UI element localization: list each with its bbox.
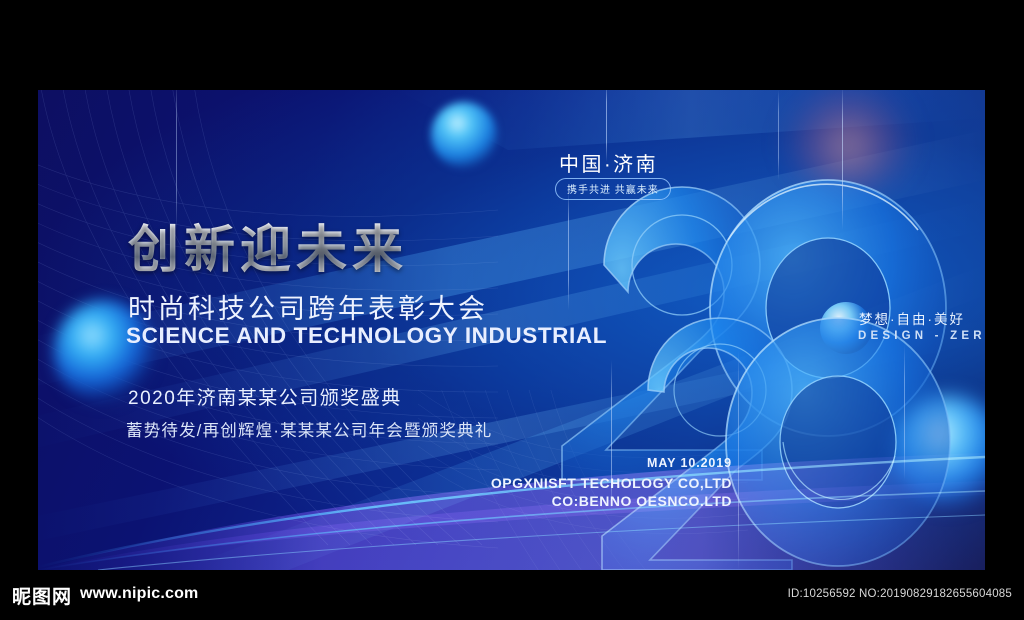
guide-line xyxy=(904,345,905,480)
poster-slogan-cn: 梦想·自由·美好 xyxy=(859,308,965,328)
poster-event-line-2: 蓄势待发/再创辉煌·某某某公司年会暨颁奖典礼 xyxy=(126,417,492,441)
warm-flare-decoration xyxy=(783,90,913,190)
image-meta-id: ID:10256592 NO:20190829182655604085 xyxy=(788,588,1012,600)
guide-line xyxy=(568,190,569,310)
poster-company-line-2: CO:BENNO OESNCO.LTD xyxy=(447,493,732,509)
poster-event-line-1: 2020年济南某某公司颁奖盛典 xyxy=(128,383,402,410)
poster-slogan-badge: 携手共进 共赢未来 xyxy=(555,178,671,200)
poster-subtitle-en: SCIENCE AND TECHNOLOGY INDUSTRIAL xyxy=(126,323,607,349)
glow-orb-right xyxy=(893,395,985,507)
poster-title: 创新迎未来 xyxy=(128,208,408,282)
poster-slogan-en: DESIGN - ZERO xyxy=(858,330,985,342)
screenshot-root: 创新迎未来 时尚科技公司跨年表彰大会 SCIENCE AND TECHNOLOG… xyxy=(0,0,1024,620)
watermark-url[interactable]: www.nipic.com xyxy=(80,585,198,603)
poster-artwork: 创新迎未来 时尚科技公司跨年表彰大会 SCIENCE AND TECHNOLOG… xyxy=(38,90,985,570)
glow-orb-top xyxy=(431,102,497,168)
poster-company-line-1: OPGXNISFT TECHOLOGY CO,LTD xyxy=(447,475,732,491)
poster-dateline: MAY 10.2019 xyxy=(447,456,732,470)
guide-line xyxy=(842,90,843,230)
guide-line xyxy=(778,90,779,180)
watermark-logo: 昵图网 xyxy=(12,582,72,609)
poster-subtitle-cn: 时尚科技公司跨年表彰大会 xyxy=(128,287,488,326)
footer-bar: 昵图网 www.nipic.com ID:10256592 NO:2019082… xyxy=(0,570,1024,620)
guide-line xyxy=(738,350,739,570)
poster-city-label: 中国·济南 xyxy=(559,148,658,177)
